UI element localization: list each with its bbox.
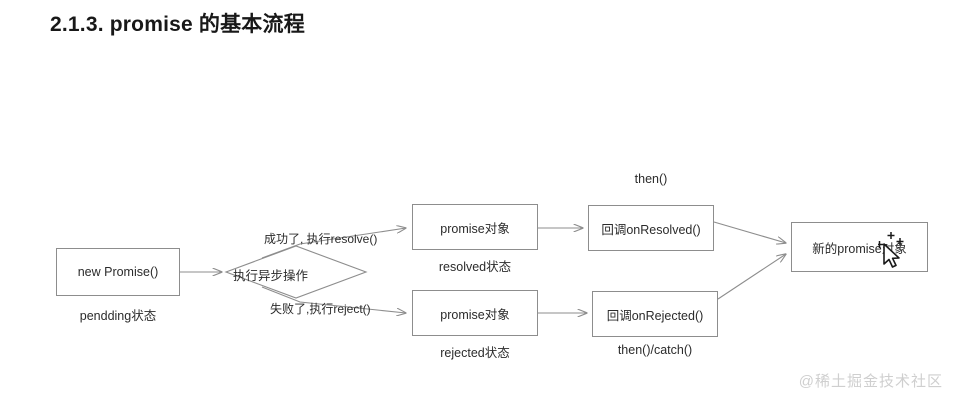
node-callback-onresolved-label: 回调onResolved() — [601, 219, 700, 238]
node-new-promise-label: new Promise() — [78, 265, 159, 279]
watermark: @稀土掘金技术社区 — [799, 370, 943, 391]
node-new-promise-object-label: 新的promise对象 — [812, 238, 906, 257]
node-resolved-promise-object[interactable]: promise对象 — [412, 204, 538, 250]
caption-then: then() — [588, 172, 714, 186]
caption-resolved-state: resolved状态 — [412, 256, 538, 275]
edge-onrejected-to-newpromise — [718, 254, 786, 299]
node-resolved-promise-object-label: promise对象 — [440, 218, 509, 237]
diamond-async-operation-label: 执行异步操作 — [233, 265, 308, 284]
node-callback-onresolved[interactable]: 回调onResolved() — [588, 205, 714, 251]
node-new-promise-object[interactable]: 新的promise对象 — [791, 222, 928, 272]
caption-then-catch: then()/catch() — [592, 343, 718, 357]
node-new-promise[interactable]: new Promise() — [56, 248, 180, 296]
caption-pendding-state: pendding状态 — [56, 305, 180, 324]
edge-onresolved-to-newpromise — [714, 222, 786, 243]
edge-label-reject: 失败了,执行reject() — [270, 300, 371, 317]
node-callback-onrejected[interactable]: 回调onRejected() — [592, 291, 718, 337]
edge-label-resolve: 成功了, 执行resolve() — [264, 230, 377, 247]
caption-rejected-state: rejected状态 — [412, 342, 538, 361]
node-callback-onrejected-label: 回调onRejected() — [607, 305, 704, 324]
node-rejected-promise-object[interactable]: promise对象 — [412, 290, 538, 336]
node-rejected-promise-object-label: promise对象 — [440, 304, 509, 323]
